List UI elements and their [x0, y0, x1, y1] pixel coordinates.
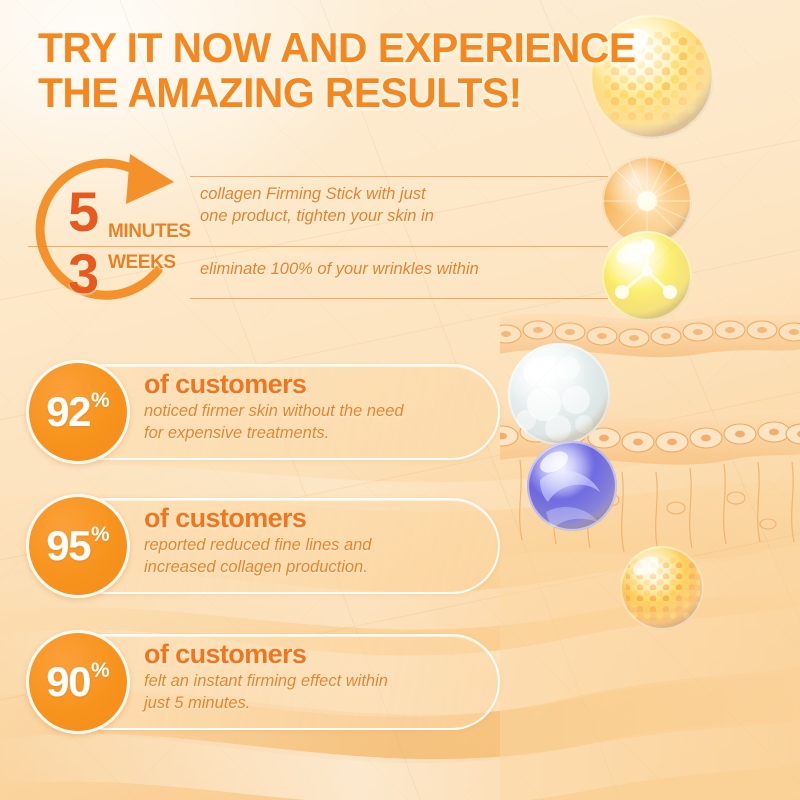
stat-description: felt an instant firming effect within ju…: [144, 671, 494, 714]
stat-row: 92 % of customers noticed firmer skin wi…: [26, 360, 500, 464]
divider-bottom: [190, 298, 608, 299]
duration-cycle-block: 5 MINUTES 3 WEEKS: [22, 148, 198, 324]
stat-description: noticed firmer skin without the need for…: [144, 401, 494, 444]
cycle-unit-weeks: WEEKS: [108, 253, 176, 272]
stat-percent-value: 92: [46, 388, 90, 436]
stat-description: reported reduced fine lines and increase…: [144, 535, 494, 578]
stat-title: of customers: [144, 370, 494, 398]
divider-middle: [28, 246, 608, 247]
divider-top: [190, 176, 608, 177]
cycle-unit-minutes: MINUTES: [108, 222, 191, 241]
percent-sign-icon: %: [91, 659, 110, 683]
page-title: TRY IT NOW AND EXPERIENCE THE AMAZING RE…: [38, 26, 717, 115]
statement-line-2: eliminate 100% of your wrinkles within: [200, 258, 600, 280]
percent-sign-icon: %: [91, 389, 110, 413]
stat-percent-badge: 92 %: [26, 360, 130, 464]
cycle-value-weeks: 3: [68, 246, 97, 302]
poster-canvas: TRY IT NOW AND EXPERIENCE THE AMAZING RE…: [0, 0, 800, 800]
stat-percent-badge: 90 %: [26, 630, 130, 734]
stat-percent-value: 90: [46, 658, 90, 706]
percent-sign-icon: %: [91, 523, 110, 547]
stat-percent-value: 95: [46, 522, 90, 570]
stat-row: 95 % of customers reported reduced fine …: [26, 494, 500, 598]
stat-title: of customers: [144, 640, 494, 668]
stat-text: of customers felt an instant firming eff…: [144, 640, 494, 714]
statement-line-1: collagen Firming Stick with just one pro…: [200, 183, 600, 227]
stat-title: of customers: [144, 504, 494, 532]
stat-text: of customers reported reduced fine lines…: [144, 504, 494, 578]
stat-row: 90 % of customers felt an instant firmin…: [26, 630, 500, 734]
stat-percent-badge: 95 %: [26, 494, 130, 598]
cycle-value-minutes: 5: [68, 184, 97, 240]
stat-text: of customers noticed firmer skin without…: [144, 370, 494, 444]
